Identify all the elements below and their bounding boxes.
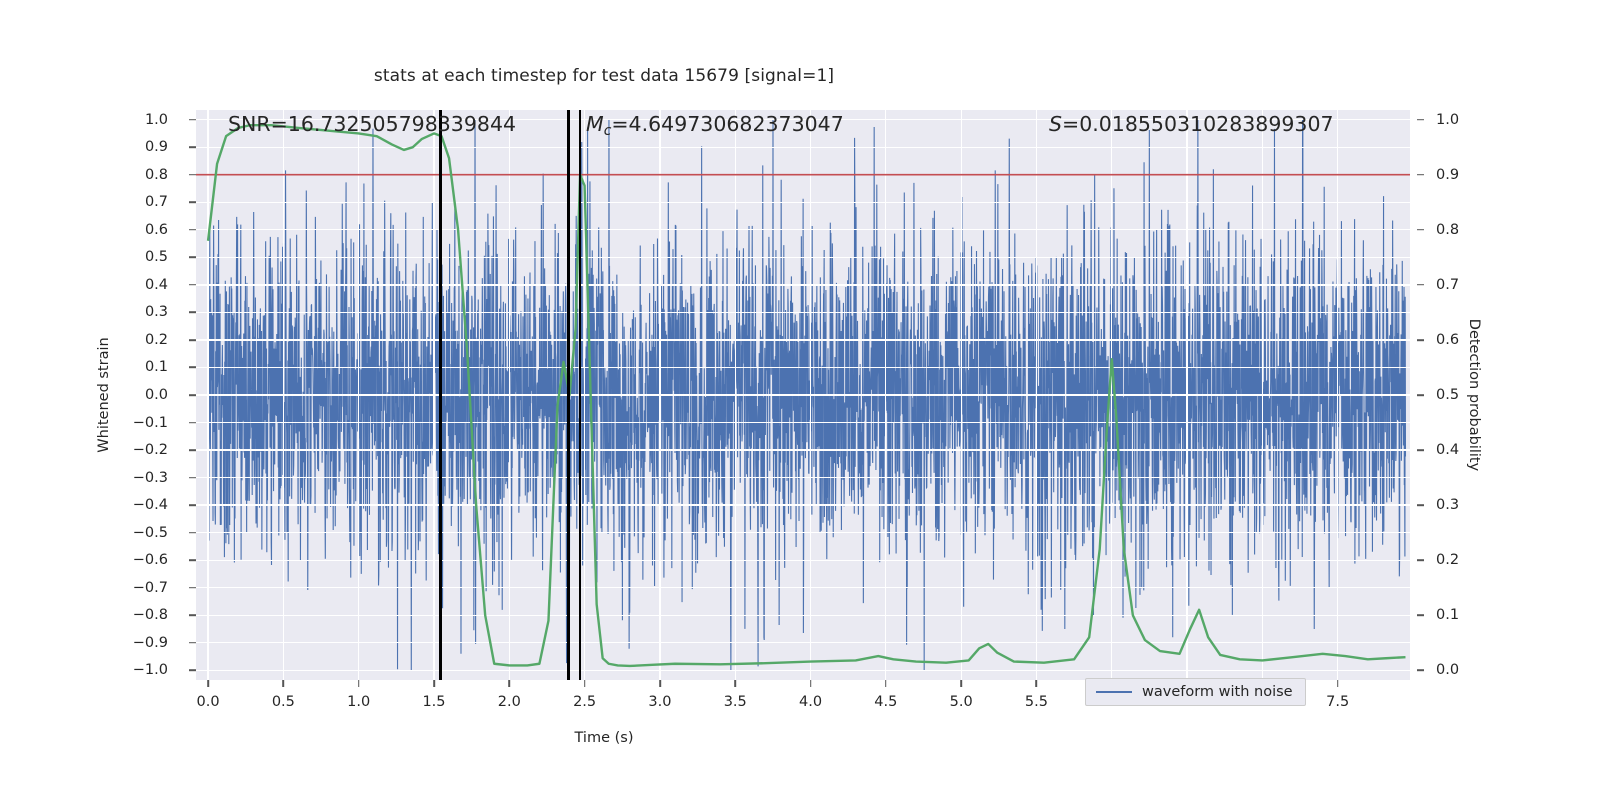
detection-probability-line (208, 125, 1405, 666)
y-tick-label-left: −0.5 (133, 525, 168, 541)
tickmark (584, 680, 586, 687)
y-tick-label-right: 0.1 (1436, 607, 1459, 623)
tickmark (189, 449, 196, 451)
y-tick-label-left: −0.7 (133, 580, 168, 596)
tickmark (1036, 680, 1038, 687)
tickmark (189, 201, 196, 203)
x-tick-label: 0.5 (272, 694, 295, 710)
x-tick-label: 1.5 (422, 694, 445, 710)
y-tick-label-right: 0.6 (1436, 332, 1459, 348)
x-tick-label: 7.5 (1326, 694, 1349, 710)
s-label: S (1049, 112, 1062, 136)
tickmark (189, 394, 196, 396)
tickmark (189, 229, 196, 231)
merger-marker-line (439, 110, 442, 680)
y-tick-label-right: 0.9 (1436, 167, 1459, 183)
x-tick-label: 1.0 (347, 694, 370, 710)
y-tick-label-right: 0.2 (1436, 552, 1459, 568)
tickmark (189, 339, 196, 341)
chart-title-text: stats at each timestep for test data 156… (374, 66, 834, 86)
x-tick-label: 3.0 (648, 694, 671, 710)
right-axis-ticklabels: 0.00.10.20.30.40.50.60.70.80.91.0 (1410, 110, 1600, 680)
y-tick-label-left: −0.9 (133, 635, 168, 651)
tickmark (189, 312, 196, 314)
tickmark (189, 284, 196, 286)
x-axis-label-text: Time (s) (575, 730, 634, 746)
legend-swatch-waveform (1096, 691, 1132, 693)
snr-value: 16.732505798339844 (288, 112, 516, 136)
tickmark (189, 119, 196, 121)
tickmark (189, 257, 196, 259)
y-tick-label-left: −0.2 (133, 442, 168, 458)
tickmark (885, 680, 887, 687)
snr-label: SNR= (228, 112, 288, 136)
y-tick-label-left: −0.8 (133, 607, 168, 623)
x-tick-label: 5.5 (1025, 694, 1048, 710)
figure: stats at each timestep for test data 156… (0, 0, 1600, 800)
tickmark (189, 477, 196, 479)
tickmark (358, 680, 360, 687)
tickmark (508, 680, 510, 687)
x-tick-label: 4.5 (874, 694, 897, 710)
tickmark (1337, 680, 1339, 687)
tickmark (189, 614, 196, 616)
tickmark (189, 367, 196, 369)
y-tick-label-left: 1.0 (145, 112, 168, 128)
y-tick-label-left: 0.6 (145, 222, 168, 238)
left-axis-ticklabels: 1.00.90.80.70.60.50.40.30.20.10.0−0.1−0.… (0, 110, 182, 680)
y-tick-label-left: 0.8 (145, 167, 168, 183)
y-tick-label-left: 0.0 (145, 387, 168, 403)
merger-marker-line (579, 110, 582, 680)
tickmark (189, 422, 196, 424)
y-tick-label-right: 0.5 (1436, 387, 1459, 403)
tickmark (960, 680, 962, 687)
y-tick-label-left: 0.1 (145, 359, 168, 375)
y-tick-label-right: 0.3 (1436, 497, 1459, 513)
tickmark (207, 680, 209, 687)
y-tick-label-right: 1.0 (1436, 112, 1459, 128)
y-tick-label-left: −0.3 (133, 470, 168, 486)
tickmark (283, 680, 285, 687)
plot-area: SNR=16.732505798339844 Mc=4.649730682373… (196, 110, 1410, 680)
tickmark (189, 559, 196, 561)
x-tick-label: 0.0 (197, 694, 220, 710)
chirp-mass-annotation: Mc=4.649730682373047 (586, 112, 844, 139)
snr-annotation: SNR=16.732505798339844 (228, 112, 516, 136)
left-y-axis-label: Whitened strain (96, 337, 112, 452)
y-tick-label-left: 0.2 (145, 332, 168, 348)
page-title: stats at each timestep for test data 156… (0, 66, 1600, 86)
s-statistic-annotation: S=0.018550310283899307 (1049, 112, 1334, 136)
y-tick-label-left: 0.5 (145, 249, 168, 265)
y-tick-label-left: 0.9 (145, 139, 168, 155)
tickmark (433, 680, 435, 687)
x-tick-label: 2.5 (573, 694, 596, 710)
tickmark (189, 174, 196, 176)
y-tick-label-right: 0.8 (1436, 222, 1459, 238)
y-tick-label-left: 0.7 (145, 194, 168, 210)
legend[interactable]: waveform with noise (1085, 678, 1306, 706)
s-value: 0.018550310283899307 (1079, 112, 1333, 136)
tickmark (189, 642, 196, 644)
tickmark (810, 680, 812, 687)
overlay-series (196, 110, 1410, 680)
y-tick-label-left: −1.0 (133, 662, 168, 678)
right-y-axis-label: Detection probability (1466, 319, 1482, 471)
tickmark (189, 532, 196, 534)
x-axis-label: Time (s) (0, 730, 1600, 746)
y-tick-label-left: −0.6 (133, 552, 168, 568)
legend-label-waveform: waveform with noise (1142, 684, 1293, 700)
mc-label: M (586, 112, 604, 136)
x-tick-label: 4.0 (799, 694, 822, 710)
y-tick-label-right: 0.0 (1436, 662, 1459, 678)
mc-equals: = (611, 112, 628, 136)
tickmark (189, 146, 196, 148)
s-equals: = (1062, 112, 1079, 136)
x-tick-label: 5.0 (950, 694, 973, 710)
y-tick-label-right: 0.4 (1436, 442, 1459, 458)
x-tick-label: 3.5 (724, 694, 747, 710)
tickmark (189, 670, 196, 672)
tickmark (734, 680, 736, 687)
tickmark (189, 587, 196, 589)
x-tick-label: 2.0 (498, 694, 521, 710)
y-tick-label-left: 0.3 (145, 304, 168, 320)
tickmark (659, 680, 661, 687)
y-tick-label-left: 0.4 (145, 277, 168, 293)
mc-value: 4.649730682373047 (629, 112, 844, 136)
y-tick-label-left: −0.1 (133, 415, 168, 431)
tickmark (189, 504, 196, 506)
y-tick-label-right: 0.7 (1436, 277, 1459, 293)
y-tick-label-left: −0.4 (133, 497, 168, 513)
merger-marker-line (567, 110, 570, 680)
